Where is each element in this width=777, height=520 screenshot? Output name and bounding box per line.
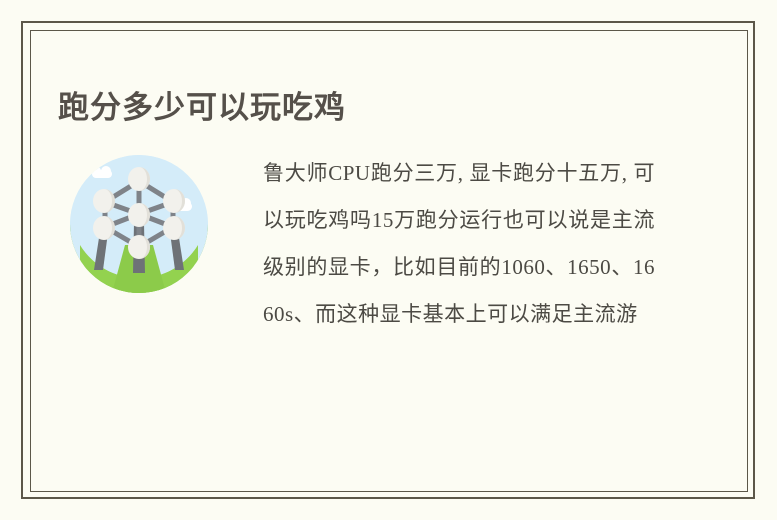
article-content: 鲁大师CPU跑分三万, 显卡跑分十五万, 可以玩吃鸡吗15万跑分运行也可以说是主… — [58, 150, 688, 400]
article-thumbnail — [70, 155, 208, 293]
article-page: 跑分多少可以玩吃鸡 — [0, 0, 777, 520]
page-title: 跑分多少可以玩吃鸡 — [58, 87, 346, 129]
atomium-landmark-icon — [70, 155, 208, 293]
article-body-text: 鲁大师CPU跑分三万, 显卡跑分十五万, 可以玩吃鸡吗15万跑分运行也可以说是主… — [263, 150, 655, 338]
